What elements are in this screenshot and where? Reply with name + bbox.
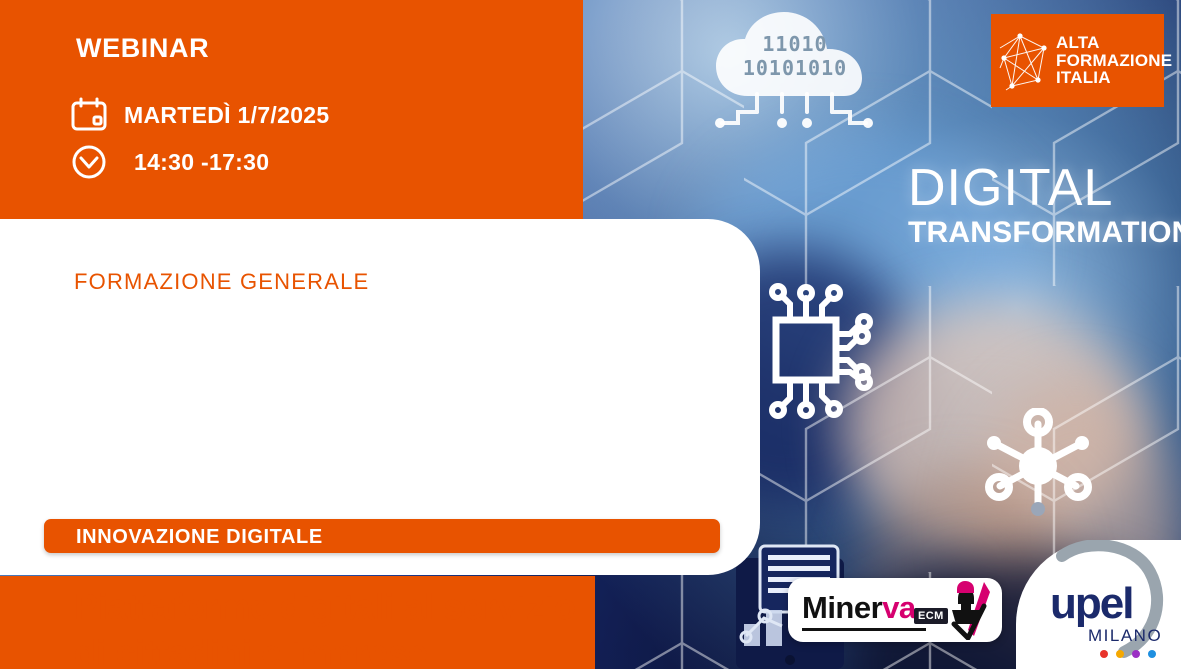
header-band: WEBINAR MARTEDÌ 1/7/2025 14:30 -17:30: [0, 0, 583, 219]
upel-city: MILANO: [1088, 626, 1162, 646]
afi-line-2: FORMAZIONE: [1056, 52, 1172, 70]
event-time: 14:30 -17:30: [134, 149, 269, 176]
alta-formazione-text: ALTA FORMAZIONE ITALIA: [1056, 34, 1172, 87]
minerva-wordmark: Minerva: [802, 590, 916, 626]
headline-digital: DIGITAL: [908, 162, 1181, 214]
microchip-circuit-icon: [752, 278, 892, 428]
cloud-binary-icon: [700, 8, 890, 132]
minerva-underline: [802, 628, 926, 631]
upel-dot-purple: [1132, 650, 1140, 658]
topic-badge-label: INNOVAZIONE DIGITALE: [76, 526, 323, 549]
event-date: MARTEDÌ 1/7/2025: [124, 102, 330, 129]
minerva-word-dark: Miner: [802, 590, 882, 625]
page-title-line-1: Piattaforme digitali al servizio: [74, 584, 714, 630]
upel-wordmark: upel: [1050, 582, 1132, 626]
calendar-icon: [70, 96, 108, 134]
event-time-row: 14:30 -17:30: [70, 143, 269, 181]
upel-dot-yellow: [1116, 650, 1124, 658]
afi-line-3: ITALIA: [1056, 69, 1172, 87]
content-card: FORMAZIONE GENERALE INNOVAZIONE DIGITALE…: [0, 219, 760, 575]
digital-transformation-headline: DIGITAL TRANSFORMATION: [908, 162, 1181, 249]
headline-transformation: TRANSFORMATION: [908, 217, 1181, 249]
upel-dot-red: [1100, 650, 1108, 658]
alta-formazione-italia-logo: ALTA FORMAZIONE ITALIA: [991, 14, 1164, 107]
afi-line-1: ALTA: [1056, 34, 1172, 52]
minerva-logo: Minerva ECM: [788, 578, 1002, 642]
webinar-kicker: WEBINAR: [76, 33, 209, 64]
minerva-spear-figure-icon: [934, 580, 996, 640]
webinar-poster: 11010 10101010: [0, 0, 1181, 669]
page-title-line-2: di cittadini e imprese: [74, 630, 714, 669]
page-title: Piattaforme digitali al servizio di citt…: [74, 584, 714, 669]
course-category: FORMAZIONE GENERALE: [74, 269, 369, 295]
upel-dot-blue: [1148, 650, 1156, 658]
node-network-icon: [998, 28, 1052, 94]
topic-badge: INNOVAZIONE DIGITALE: [44, 519, 720, 553]
upel-logo: upel MILANO: [1016, 540, 1181, 669]
clock-icon: [70, 143, 108, 181]
upel-dots: [1100, 650, 1156, 658]
event-date-row: MARTEDÌ 1/7/2025: [70, 96, 330, 134]
minerva-word-pink: va: [882, 590, 915, 625]
network-hub-icon: [968, 408, 1108, 526]
